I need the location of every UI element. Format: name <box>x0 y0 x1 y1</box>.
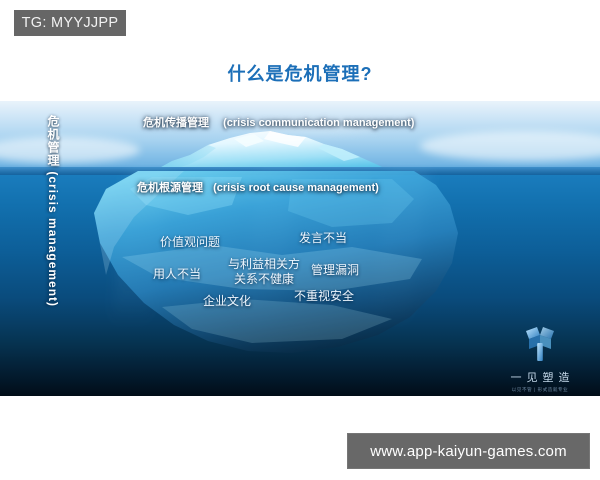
slide-canvas: TG: MYYJJPP 什么是危机管理? <box>0 0 600 480</box>
above-water-label-zh: 危机传播管理 <box>143 117 209 129</box>
brand-logo: 一见塑造 以见不管 | 形式造就专业 <box>488 326 592 393</box>
telegram-watermark-badge: TG: MYYJJPP <box>14 10 126 36</box>
root-cause-label: 与利益相关方关系不健康 <box>228 257 300 287</box>
root-cause-label: 不重视安全 <box>294 287 354 304</box>
above-water-label: 危机传播管理 (crisis communication management) <box>143 114 414 130</box>
above-water-label-en: (crisis communication management) <box>223 117 414 129</box>
brand-name: 一见塑造 <box>488 369 592 385</box>
root-cause-label: 用人不当 <box>153 265 201 282</box>
iceberg-figure: 危机管理 (crisis management) 危机传播管理 (crisis … <box>0 101 600 396</box>
below-water-label-en: (crisis root cause management) <box>213 182 379 194</box>
site-watermark-badge: www.app-kaiyun-games.com <box>347 433 590 469</box>
site-watermark-text: www.app-kaiyun-games.com <box>370 443 567 460</box>
brand-tagline: 以见不管 | 形式造就专业 <box>488 387 592 393</box>
root-cause-label-line: 关系不健康 <box>228 272 300 287</box>
root-cause-label: 价值观问题 <box>160 233 220 250</box>
root-cause-label-line: 与利益相关方 <box>228 257 300 272</box>
vertical-axis-label: 危机管理 (crisis management) <box>45 115 62 330</box>
page-title: 什么是危机管理? <box>0 60 600 86</box>
below-water-label: 危机根源管理 (crisis root cause management) <box>137 179 379 195</box>
root-cause-label: 企业文化 <box>203 292 251 309</box>
root-cause-label: 管理漏洞 <box>311 261 359 278</box>
telegram-watermark-text: TG: MYYJJPP <box>22 15 119 31</box>
root-cause-label: 发言不当 <box>299 229 347 246</box>
below-water-label-zh: 危机根源管理 <box>137 182 203 194</box>
y-shape-logo-icon <box>523 326 557 362</box>
